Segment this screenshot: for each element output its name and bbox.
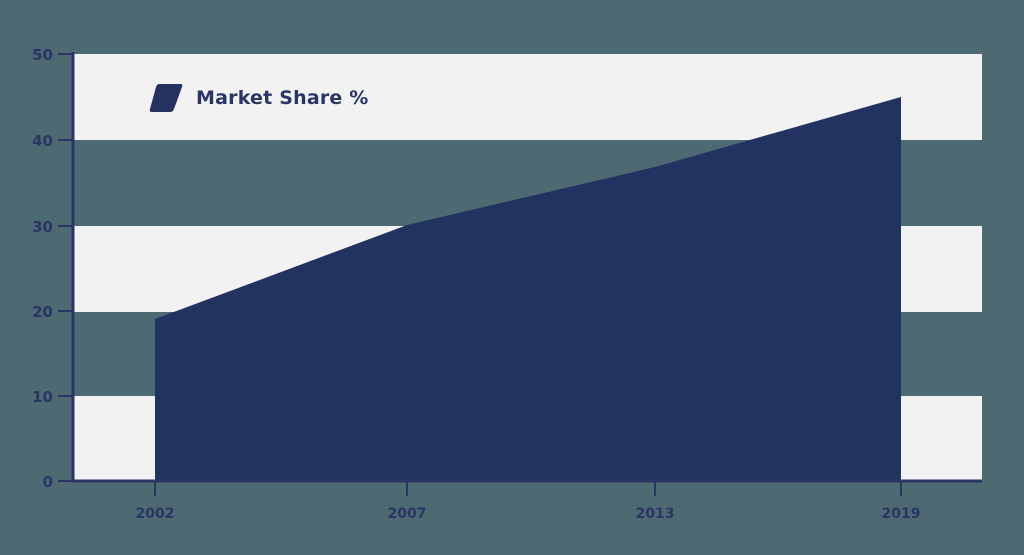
y-tick-label-40: 40 <box>32 132 53 150</box>
y-tick-label-30: 30 <box>32 218 53 236</box>
y-tick-label-20: 20 <box>32 303 53 321</box>
x-tick-label-2002: 2002 <box>136 506 175 522</box>
area-chart: 50 40 30 20 10 0 2002 2007 2013 2019 Mar… <box>0 0 1024 555</box>
x-tick-label-2019: 2019 <box>882 506 921 522</box>
series-market-share <box>155 97 901 481</box>
x-tick-label-2013: 2013 <box>636 506 675 522</box>
y-tick-label-0: 0 <box>43 473 53 491</box>
y-tick-label-10: 10 <box>32 388 53 406</box>
legend-label-market-share: Market Share % <box>196 87 369 109</box>
y-tick-marks <box>58 54 72 481</box>
area-fill <box>155 97 901 481</box>
x-tick-label-2007: 2007 <box>388 506 427 522</box>
legend-swatch-market-share <box>149 82 183 114</box>
y-tick-label-50: 50 <box>32 46 53 64</box>
x-tick-marks <box>155 482 901 496</box>
